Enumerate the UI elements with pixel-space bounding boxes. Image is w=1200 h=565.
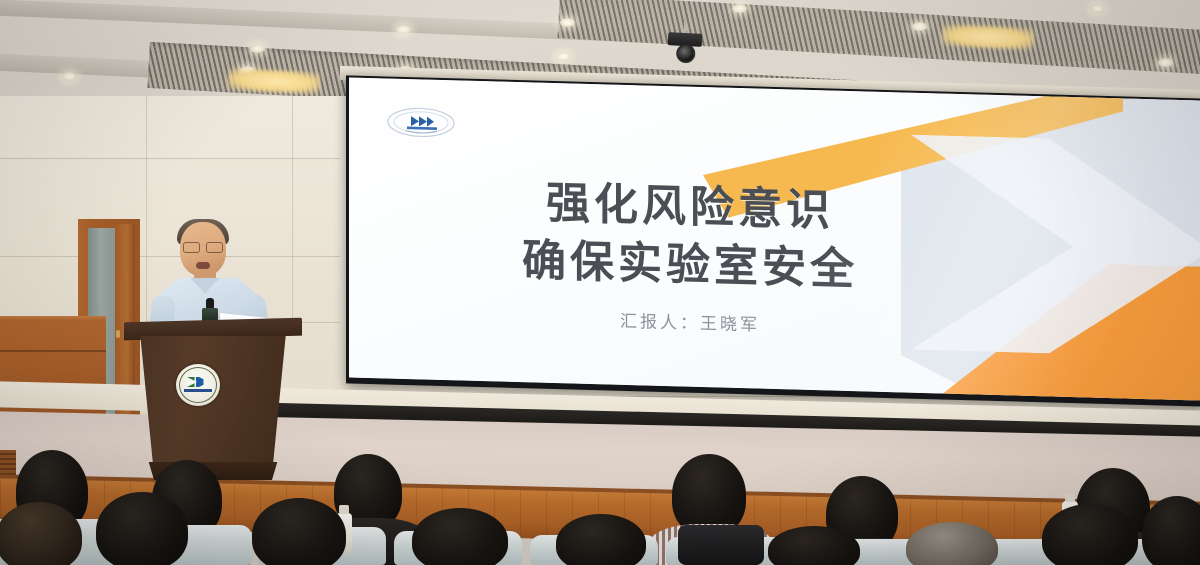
audience-head — [412, 508, 508, 565]
emblem-bar — [184, 389, 212, 392]
ceiling-spotlight — [732, 4, 747, 13]
ceiling-spotlight — [556, 52, 571, 61]
ceiling-spotlight — [1158, 58, 1173, 67]
audience-head — [96, 492, 188, 565]
ceiling-vent-grille — [558, 0, 1200, 77]
podium-microphone — [202, 298, 218, 322]
institution-oval-logo — [385, 104, 457, 140]
speaker-mouth — [196, 262, 210, 269]
audience — [0, 432, 1200, 565]
ceiling-spotlight — [396, 25, 411, 34]
shoulder-bag — [678, 525, 764, 565]
slide-title: 强化风险意识 确保实验室安全 — [349, 169, 1200, 308]
ceiling-spotlight — [62, 72, 77, 81]
door-handle[interactable] — [116, 330, 120, 338]
audience-head — [1142, 496, 1200, 565]
speaker-glasses — [183, 242, 223, 251]
ceiling-panel-light — [941, 24, 1034, 51]
audience-head — [252, 498, 346, 565]
institution-circular-emblem — [176, 364, 220, 406]
audience-head — [906, 522, 998, 565]
audience-head — [1042, 504, 1138, 565]
projection-screen-assembly: 强化风险意识 确保实验室安全 汇报人：王晓军 — [340, 78, 1200, 400]
ceiling-panel-light — [227, 68, 320, 95]
ceiling-spotlight — [560, 18, 575, 27]
ceiling-spotlight — [250, 44, 265, 53]
ceiling-projector — [668, 32, 703, 47]
projection-screen[interactable]: 强化风险意识 确保实验室安全 汇报人：王晓军 — [349, 77, 1200, 400]
ceiling-spotlight — [912, 22, 927, 31]
auditorium-photo: 强化风险意识 确保实验室安全 汇报人：王晓军 — [0, 0, 1200, 565]
ceiling-spotlight — [1090, 4, 1105, 13]
audience-head — [556, 514, 646, 565]
